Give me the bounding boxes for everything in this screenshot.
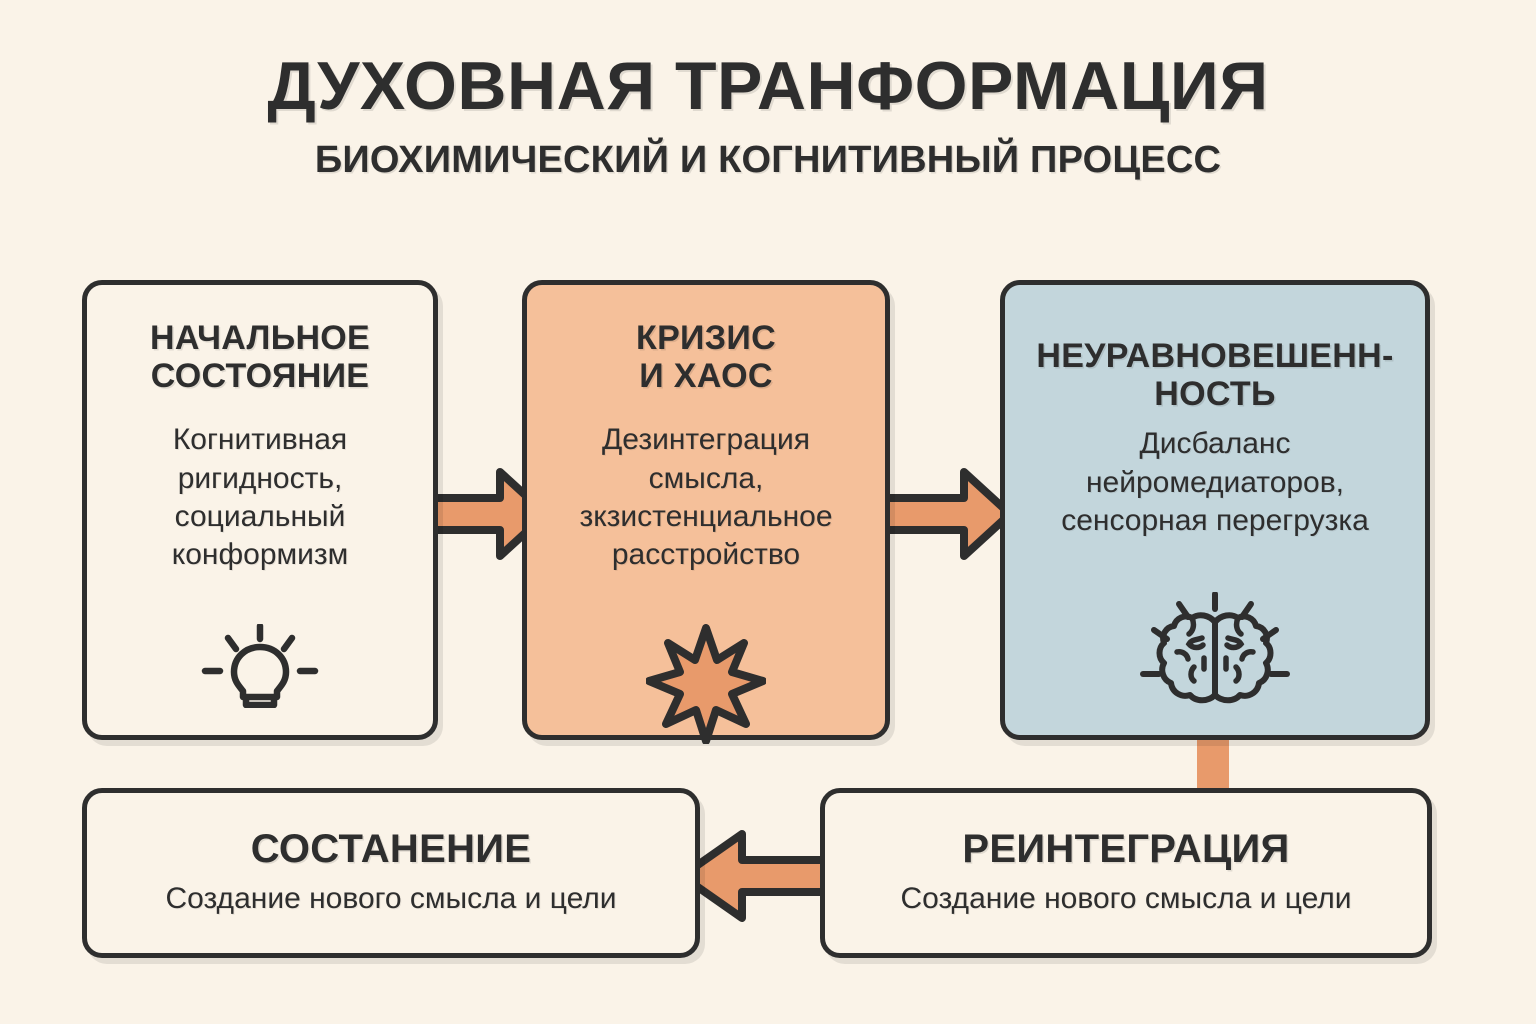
stage-heading-reintegration: РЕИНТЕГРАЦИЯ [962, 827, 1289, 872]
stage-body-reintegration: Создание нового смысла и цели [900, 880, 1351, 918]
header: ДУХОВНАЯ ТРАНФОРМАЦИЯ БИОХИМИЧЕСКИЙ И КО… [0, 52, 1536, 179]
lightbulb-icon [200, 624, 320, 713]
stage-heading-imbalance: НЕУРАВНОВЕШЕНН- НОСТЬ [1036, 337, 1393, 413]
stage-body-initial: Когнитивная ригидность, социальный конфо… [172, 421, 349, 575]
arrow-right-crisis-to-imbalance [876, 462, 1012, 566]
page-subtitle: БИОХИМИЧЕСКИЙ И КОГНИТИВНЫЙ ПРОЦЕСС [0, 141, 1536, 179]
arrow-left-reintegration-to-creation [678, 826, 834, 926]
stage-card-crisis[interactable]: КРИЗИС И ХАОС Дезинтеграция смысла, зкзи… [522, 280, 890, 740]
stage-heading-creation: СОСТАНЕНИЕ [251, 827, 532, 872]
starburst-icon [646, 624, 766, 749]
stage-card-initial[interactable]: НАЧАЛЬНОЕ СОСТОЯНИЕ Когнитивная ригиднос… [82, 280, 438, 740]
stage-body-creation: Создание нового смысла и цели [165, 880, 616, 918]
stage-heading-crisis: КРИЗИС И ХАОС [636, 319, 776, 395]
page-title: ДУХОВНАЯ ТРАНФОРМАЦИЯ [0, 52, 1536, 121]
stage-body-imbalance: Дисбаланс нейромедиаторов, сенсорная пер… [1061, 425, 1369, 540]
stage-card-creation[interactable]: СОСТАНЕНИЕ Создание нового смысла и цели [82, 788, 700, 958]
stage-heading-initial: НАЧАЛЬНОЕ СОСТОЯНИЕ [150, 319, 370, 395]
stage-card-reintegration[interactable]: РЕИНТЕГРАЦИЯ Создание нового смысла и це… [820, 788, 1432, 958]
brain-icon [1139, 592, 1291, 721]
diagram-canvas: ДУХОВНАЯ ТРАНФОРМАЦИЯ БИОХИМИЧЕСКИЙ И КО… [0, 0, 1536, 1024]
stage-body-crisis: Дезинтеграция смысла, зкзистенциальное р… [579, 421, 832, 575]
stage-card-imbalance[interactable]: НЕУРАВНОВЕШЕНН- НОСТЬ Дисбаланс нейромед… [1000, 280, 1430, 740]
